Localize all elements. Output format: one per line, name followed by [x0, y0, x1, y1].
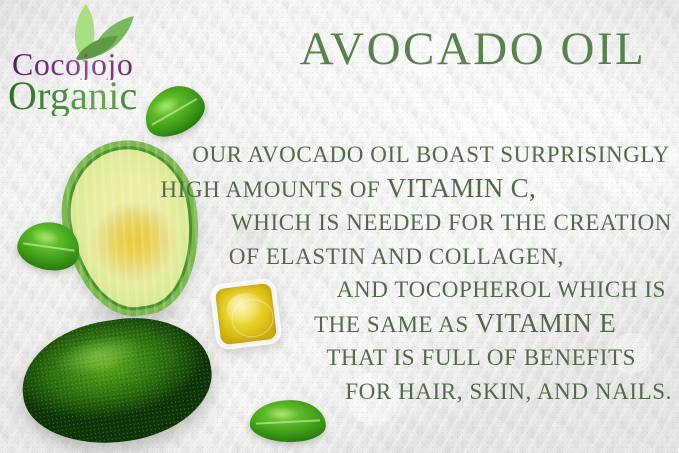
copy-line-6-vitamin-e: VITAMIN E [475, 308, 616, 338]
marketing-copy: OUR AVOCADO OIL BOAST SURPRISINGLY HIGH … [110, 138, 672, 408]
copy-line-6: THE SAME AS VITAMIN E [110, 307, 672, 342]
brand-name-secondary: Organic [8, 76, 138, 116]
page-title: AVOCADO OIL [278, 26, 668, 73]
copy-line-2-a: HIGH AMOUNTS OF [160, 177, 386, 202]
copy-line-7: THAT IS FULL OF BENEFITS [110, 341, 672, 375]
copy-line-3: WHICH IS NEEDED FOR THE CREATION [110, 206, 672, 240]
copy-line-1: OUR AVOCADO OIL BOAST SURPRISINGLY [110, 138, 672, 172]
copy-line-4: OF ELASTIN AND COLLAGEN, [110, 240, 672, 274]
brand-logo: Cocojojo Organic [4, 2, 184, 120]
copy-line-2-vitamin-c: VITAMIN C, [387, 173, 536, 203]
copy-line-6-a: THE SAME AS [314, 312, 475, 337]
copy-line-2: HIGH AMOUNTS OF VITAMIN C, [110, 172, 672, 207]
copy-line-5: AND TOCOPHEROL WHICH IS [110, 273, 672, 307]
copy-line-8: FOR HAIR, SKIN, AND NAILS. [110, 375, 672, 409]
leaf-highlight [30, 225, 62, 248]
product-banner: Cocojojo Organic AVOCADO OIL OUR AVOCADO… [0, 0, 679, 453]
